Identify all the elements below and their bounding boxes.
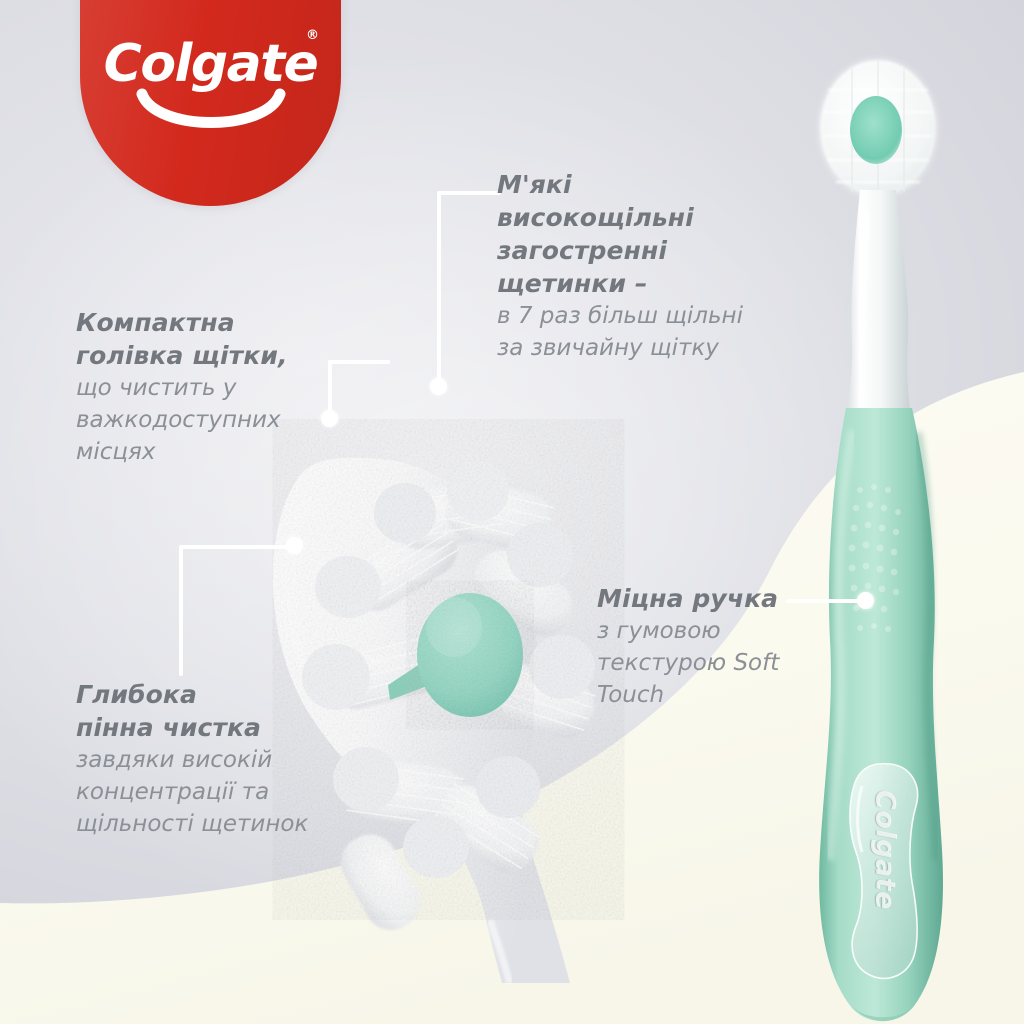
brush-neck — [846, 190, 910, 412]
leader-line-bristles-h — [437, 191, 501, 195]
callout-soft-bristles: М'які високощільні загостренні щетинки –… — [497, 168, 767, 364]
handle-emboss-text: Colgate — [870, 790, 901, 910]
callout-compact-head-heading: Компактна голівка щітки, — [76, 306, 336, 372]
brush-head-bristles — [820, 60, 936, 196]
handle-emboss-text-wrap: Colgate — [845, 770, 925, 930]
leader-dot-foam — [286, 537, 303, 554]
leader-line-foam-v — [179, 545, 183, 676]
callout-deep-foam-clean: Глибока пінна чистка завдяки високій кон… — [76, 678, 338, 840]
leader-line-compact-head-h — [328, 360, 390, 364]
infographic-canvas: Colgate ® — [0, 0, 1024, 1024]
callout-compact-head-body: що чистить у важкодоступних місцях — [76, 372, 336, 468]
callout-deep-foam-body: завдяки високій концентрації та щільност… — [76, 744, 338, 840]
callout-strong-handle: Міцна ручка з гумовою текстурою Soft Tou… — [597, 582, 827, 711]
callout-strong-handle-body: з гумовою текстурою Soft Touch — [597, 615, 827, 711]
callout-compact-head: Компактна голівка щітки, що чистить у ва… — [76, 306, 336, 468]
leader-line-foam-h — [179, 545, 293, 549]
smile-icon — [136, 88, 286, 144]
logo-wordmark: Colgate — [80, 34, 341, 94]
registered-trademark-icon: ® — [306, 28, 319, 43]
leader-dot-bristles — [430, 378, 447, 395]
green-bristle-patch — [850, 96, 902, 164]
callout-strong-handle-heading: Міцна ручка — [597, 582, 827, 615]
callout-soft-bristles-heading: М'які високощільні загостренні щетинки – — [497, 168, 767, 300]
callout-soft-bristles-body: в 7 раз більш щільні за звичайну щітку — [497, 300, 767, 364]
leader-dot-handle — [857, 592, 874, 609]
callout-deep-foam-heading: Глибока пінна чистка — [76, 678, 338, 744]
colgate-logo-badge: Colgate ® — [80, 0, 341, 206]
leader-line-bristles-v — [437, 191, 441, 387]
